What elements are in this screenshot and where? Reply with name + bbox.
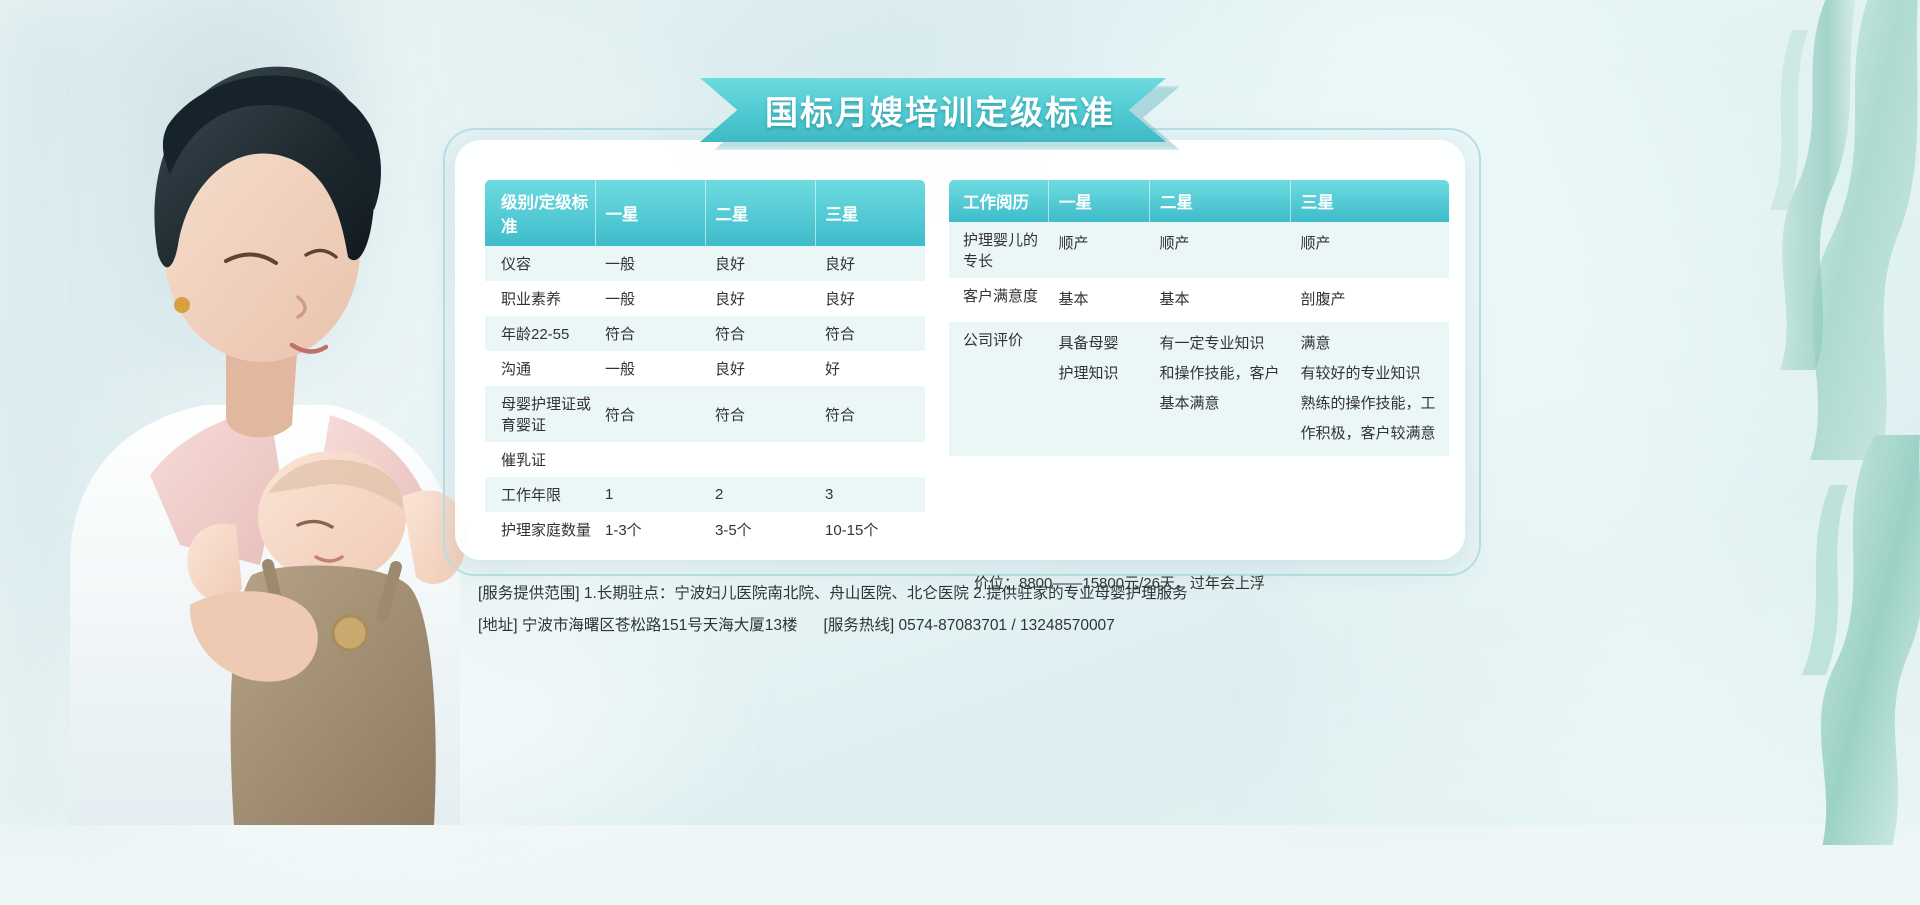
cell-criteria: 职业素养 (485, 281, 595, 316)
cell-criteria: 护理家庭数量 (485, 512, 595, 547)
col-header-three-star: 三星 (815, 180, 925, 246)
cell-criteria: 催乳证 (485, 442, 595, 477)
cell-criteria: 仪容 (485, 246, 595, 281)
cell-two-star: 良好 (705, 351, 815, 386)
cell-three-star: 好 (815, 351, 925, 386)
cell-two-star: 顺产 (1150, 222, 1291, 278)
table-row: 年龄22-55 符合 符合 符合 (485, 316, 925, 351)
footer-service-scope: [服务提供范围] 1.长期驻点：宁波妇儿医院南北院、舟山医院、北仑医院 2.提供… (478, 578, 1578, 610)
cell-experience: 护理婴儿的专长 (949, 222, 1049, 278)
cell-line: 剖腹产 (1301, 285, 1450, 315)
cell-two-star: 3-5个 (705, 512, 815, 547)
cell-one-star: 一般 (595, 281, 705, 316)
col-header-two-star: 二星 (1150, 180, 1291, 222)
cell-three-star: 10-15个 (815, 512, 925, 547)
cell-line: 有较好的专业知识 (1301, 359, 1450, 389)
cell-three-star: 剖腹产 (1291, 278, 1450, 322)
banner-title-wrap: 国标月嫂培训定级标准 (700, 78, 1180, 154)
cell-two-star: 良好 (705, 246, 815, 281)
table-row: 沟通 一般 良好 好 (485, 351, 925, 386)
cell-line: 基本 (1059, 285, 1150, 315)
cell-three-star: 良好 (815, 281, 925, 316)
cell-three-star: 良好 (815, 246, 925, 281)
cell-line: 顺产 (1059, 229, 1150, 259)
cell-line: 满意 (1301, 329, 1450, 359)
table-row: 护理婴儿的专长 顺产 顺产 顺产 (949, 222, 1449, 278)
cell-criteria: 沟通 (485, 351, 595, 386)
cell-two-star: 符合 (705, 386, 815, 442)
cell-line: 基本满意 (1160, 389, 1291, 419)
cell-three-star: 符合 (815, 386, 925, 442)
cell-one-star: 1-3个 (595, 512, 705, 547)
cell-three-star: 满意 有较好的专业知识 熟练的操作技能，工 作积极，客户较满意 (1291, 322, 1450, 456)
col-header-one-star: 一星 (595, 180, 705, 246)
table-row: 催乳证 (485, 442, 925, 477)
cell-one-star: 一般 (595, 246, 705, 281)
table-header-row: 工作阅历 一星 二星 三星 (949, 180, 1449, 222)
cell-line: 和操作技能，客户 (1160, 359, 1291, 389)
cell-one-star (595, 442, 705, 477)
col-header-three-star: 三星 (1291, 180, 1450, 222)
cell-line: 具备母婴 (1059, 329, 1150, 359)
cell-one-star: 符合 (595, 316, 705, 351)
grading-standard-table: 级别/定级标准 一星 二星 三星 仪容 一般 良好 良好 职业素养 一般 良好 … (485, 180, 925, 547)
table-row: 客户满意度 基本 基本 剖腹产 (949, 278, 1449, 322)
cell-one-star: 符合 (595, 386, 705, 442)
cell-one-star: 顺产 (1049, 222, 1150, 278)
footer-address: [地址] 宁波市海曙区苍松路151号天海大厦13楼 (478, 617, 798, 634)
col-header-experience: 工作阅历 (949, 180, 1049, 222)
footer-hotline: [服务热线] 0574-87083701 / 13248570007 (824, 617, 1115, 634)
cell-one-star: 基本 (1049, 278, 1150, 322)
cell-two-star: 有一定专业知识 和操作技能，客户 基本满意 (1150, 322, 1291, 456)
footer-contact-line: [地址] 宁波市海曙区苍松路151号天海大厦13楼[服务热线] 0574-870… (478, 610, 1578, 642)
table-row: 母婴护理证或育婴证 符合 符合 符合 (485, 386, 925, 442)
col-header-criteria: 级别/定级标准 (485, 180, 595, 246)
cell-line: 熟练的操作技能，工 (1301, 389, 1450, 419)
cell-three-star: 顺产 (1291, 222, 1450, 278)
col-header-two-star: 二星 (705, 180, 815, 246)
cell-criteria: 年龄22-55 (485, 316, 595, 351)
cell-criteria: 母婴护理证或育婴证 (485, 386, 595, 442)
cell-criteria: 工作年限 (485, 477, 595, 512)
cell-line: 有一定专业知识 (1160, 329, 1291, 359)
col-header-one-star: 一星 (1049, 180, 1150, 222)
cell-three-star: 符合 (815, 316, 925, 351)
table-row: 公司评价 具备母婴 护理知识 有一定专业知识 和操作技能，客户 基本满意 满意 … (949, 322, 1449, 456)
cell-two-star: 符合 (705, 316, 815, 351)
cell-two-star: 2 (705, 477, 815, 512)
table-row: 护理家庭数量 1-3个 3-5个 10-15个 (485, 512, 925, 547)
cell-experience: 客户满意度 (949, 278, 1049, 322)
background-blur-left-spot (120, 0, 380, 380)
cell-line: 护理知识 (1059, 359, 1150, 389)
cell-experience: 公司评价 (949, 322, 1049, 456)
cell-one-star: 一般 (595, 351, 705, 386)
cell-line: 作积极，客户较满意 (1301, 419, 1450, 449)
table-row: 工作年限 1 2 3 (485, 477, 925, 512)
banner-ribbon: 国标月嫂培训定级标准 (700, 78, 1166, 142)
work-experience-table: 工作阅历 一星 二星 三星 护理婴儿的专长 顺产 顺产 顺产 客户满意度 (949, 180, 1449, 456)
cell-two-star: 基本 (1150, 278, 1291, 322)
table-header-row: 级别/定级标准 一星 二星 三星 (485, 180, 925, 246)
cell-line: 顺产 (1160, 229, 1291, 259)
cell-three-star (815, 442, 925, 477)
tables-container: 级别/定级标准 一星 二星 三星 仪容 一般 良好 良好 职业素养 一般 良好 … (485, 180, 1450, 547)
footer-info: [服务提供范围] 1.长期驻点：宁波妇儿医院南北院、舟山医院、北仑医院 2.提供… (478, 578, 1578, 642)
cell-two-star: 良好 (705, 281, 815, 316)
table-row: 职业素养 一般 良好 良好 (485, 281, 925, 316)
cell-one-star: 具备母婴 护理知识 (1049, 322, 1150, 456)
cell-one-star: 1 (595, 477, 705, 512)
cell-line: 基本 (1160, 285, 1291, 315)
cell-three-star: 3 (815, 477, 925, 512)
page-title: 国标月嫂培训定级标准 (751, 86, 1115, 134)
cell-two-star (705, 442, 815, 477)
table-row: 仪容 一般 良好 良好 (485, 246, 925, 281)
cell-line: 顺产 (1301, 229, 1450, 259)
